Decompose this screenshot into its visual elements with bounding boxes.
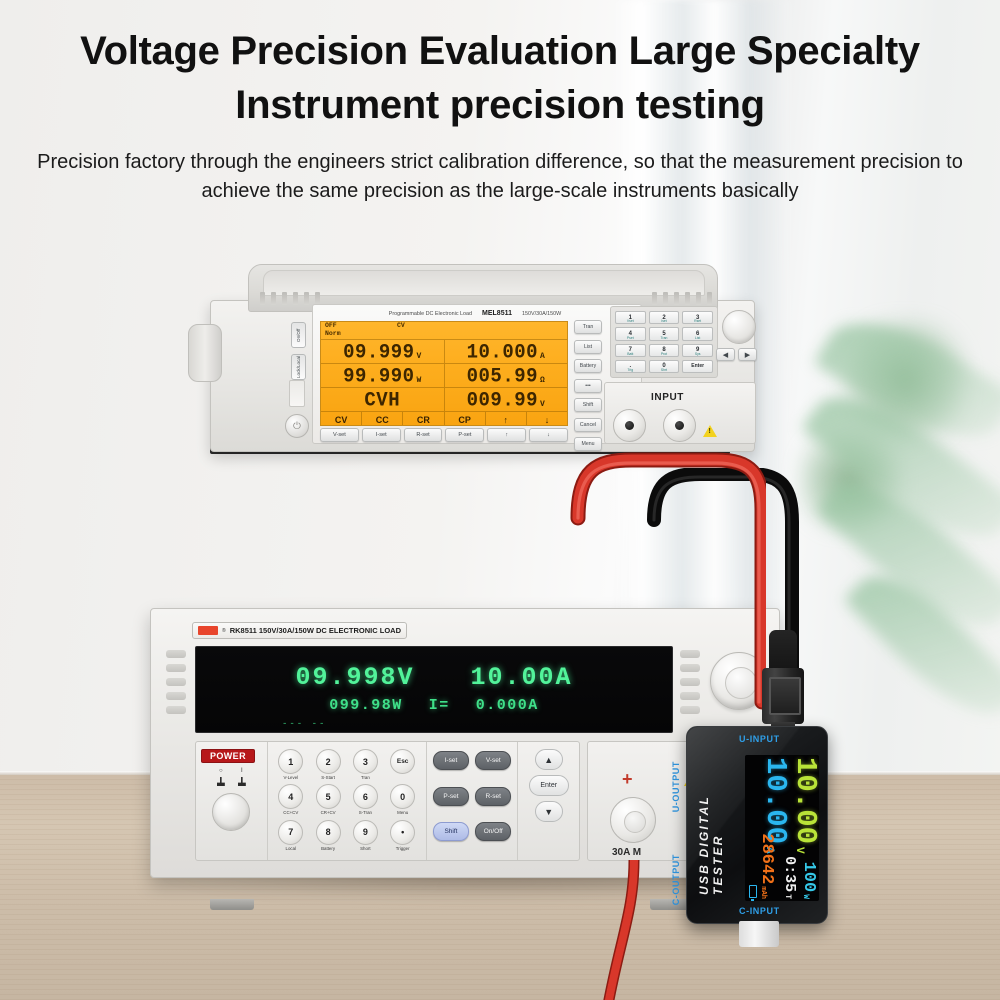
lcd-status-off: OFF: [325, 322, 341, 330]
vfd-power-value: 099.98W: [329, 697, 403, 714]
top-arrow-left[interactable]: ◀: [716, 348, 735, 361]
bot-enter-button[interactable]: Enter: [529, 775, 569, 796]
top-key-0[interactable]: 0Shrt: [649, 360, 680, 373]
key-sublabel: Shrt: [661, 368, 667, 372]
top-key-5[interactable]: 5Tran: [649, 327, 680, 340]
key-sublabel: Tran: [661, 336, 668, 340]
bot-key-5[interactable]: 5CR+CV: [311, 784, 345, 817]
top-softkey-rset[interactable]: R-set: [404, 428, 443, 442]
tester-voltage-value: 10.00: [791, 757, 819, 844]
bottom-vents-right: [680, 650, 700, 730]
marketing-header: Voltage Precision Evaluation Large Speci…: [0, 0, 1000, 206]
power-off-symbol: ○: [219, 768, 223, 775]
key-sublabel: V-Level: [283, 775, 298, 780]
vfd-voltage-value: 09.998V: [295, 663, 414, 692]
lcd-mode-text: CVH: [364, 389, 400, 412]
key-sublabel: Vset: [627, 319, 634, 323]
lcd-mode-legend: CV CC CR CP ↑ ↓: [321, 411, 567, 426]
tester-label-u-output: U-OUTPUT: [671, 761, 681, 812]
bottom-vents-left: [166, 650, 186, 730]
page-subtitle: Precision factory through the engineers …: [0, 132, 1000, 206]
tester-label-c-output: C-OUTPUT: [671, 854, 681, 905]
bottom-vfd-display: 09.998V 10.00A 099.98W I= 0.000A --- --: [195, 646, 673, 733]
bottom-rotary-knob[interactable]: [710, 652, 768, 710]
top-softkey-row: V-set I-set R-set P-set ↑ ↓: [320, 428, 568, 442]
chassis-foot-left: [210, 899, 254, 910]
lcd-voltage-unit: V: [417, 352, 422, 363]
key-label: Esc: [390, 749, 415, 774]
tester-lcd-screen: 10.00 V 10.00 A 100 W 0:35 T 28642 mAh: [745, 755, 819, 901]
top-instrument-mel8511: Programmable DC Electronic Load MEL8511 …: [200, 262, 760, 442]
key-sublabel: Trigger: [396, 846, 410, 851]
tester-capacity-value: 28642: [758, 833, 775, 884]
key-sublabel: Battery: [321, 846, 335, 851]
bottom-amp-rating-label: 30A M: [612, 847, 641, 858]
switch-off-icon: [217, 777, 225, 786]
handle-inner: [263, 270, 705, 296]
top-model-number: MEL8511: [482, 310, 512, 317]
top-binding-post-positive[interactable]: [613, 409, 646, 442]
top-left-button-column: On/Off Lock/Local: [285, 322, 311, 386]
bot-button-shift[interactable]: Shift: [433, 822, 469, 841]
tester-power-group: 100 W: [800, 862, 817, 899]
lcd-current-value: 10.000: [467, 341, 538, 364]
top-key-dot[interactable]: .Trig: [615, 360, 646, 373]
key-label: 6: [353, 784, 378, 809]
bot-arrow-down[interactable]: ▼: [535, 801, 563, 822]
key-sublabel: Menu: [397, 810, 408, 815]
tester-voltage-unit: V: [791, 847, 805, 854]
top-button-more[interactable]: •••: [574, 379, 602, 393]
top-name-label: Programmable DC Electronic Load: [389, 311, 472, 317]
key-sublabel: Trig: [627, 368, 633, 372]
lcd-voltage-value: 09.999: [343, 341, 414, 364]
registered-mark: ®: [222, 628, 226, 634]
key-sublabel: Iset: [661, 319, 666, 323]
lcd-setpoint-unit: V: [540, 400, 545, 411]
lcd-resistance-cell: 005.99 Ω: [444, 364, 568, 387]
bot-key-esc[interactable]: Esc: [386, 749, 420, 782]
top-key-3[interactable]: 3Rset: [682, 311, 713, 324]
top-vents-right: [652, 292, 712, 305]
lcd-status-norm: Norm: [325, 330, 341, 338]
bot-key-4[interactable]: 4CC+CV: [274, 784, 308, 817]
power-on-symbol-group: I: [238, 768, 246, 786]
top-key-enter[interactable]: Enter: [682, 360, 713, 373]
bot-key-dot[interactable]: •Trigger: [386, 820, 420, 853]
lcd-current-cell: 10.000 A: [444, 340, 568, 363]
top-button-list[interactable]: List: [574, 340, 602, 354]
tester-voltage-group: 10.00 V: [791, 757, 819, 854]
tester-brand-text: USB DIGITAL TESTER: [697, 763, 725, 895]
top-button-shift[interactable]: Shift: [574, 398, 602, 412]
key-sublabel: Sys: [695, 352, 701, 356]
top-key-9[interactable]: 9Sys: [682, 344, 713, 357]
lcd-row-3: CVH 009.99 V: [321, 387, 567, 411]
tester-label-c-input: C-INPUT: [739, 906, 780, 916]
tester-label-u-input: U-INPUT: [739, 734, 780, 744]
lcd-status-row: OFF Norm CV: [321, 322, 567, 339]
top-vents: [260, 292, 320, 305]
vfd-annunciators: --- --: [282, 719, 326, 729]
key-label: 0: [390, 784, 415, 809]
bot-arrow-up[interactable]: ▲: [535, 749, 563, 770]
battery-icon: [749, 885, 757, 898]
usb-cable-barrel: [769, 630, 797, 672]
page-title: Voltage Precision Evaluation Large Speci…: [0, 0, 1000, 132]
power-badge: POWER: [201, 749, 255, 763]
lcd-status-indicators: OFF Norm: [325, 322, 341, 338]
lcd-mode-up: ↑: [485, 412, 526, 426]
key-label: 1: [278, 749, 303, 774]
vfd-primary-row: 09.998V 10.00A: [196, 663, 672, 692]
bottom-control-deck: POWER ○ I 1V-Level 2S-Start 3Tran Esc 4C…: [195, 741, 580, 861]
top-softkey-up[interactable]: ↑: [487, 428, 526, 442]
key-sublabel: Rset: [694, 319, 701, 323]
lcd-mode-cp: CP: [444, 412, 485, 426]
vfd-set-current: 0.000A: [476, 697, 539, 714]
key-label: 2: [316, 749, 341, 774]
tester-time-group: 0:35 T: [782, 856, 797, 899]
top-key-6[interactable]: 6List: [682, 327, 713, 340]
top-model-bar: Programmable DC Electronic Load MEL8511 …: [320, 307, 630, 320]
tester-power-unit: W: [800, 894, 810, 899]
lcd-mode-down: ↓: [526, 412, 567, 426]
top-softkey-iset[interactable]: I-set: [362, 428, 401, 442]
top-numeric-keypad: 1Vset 2Iset 3Rset 4Pset 5Tran 6List 7Bat…: [610, 306, 718, 378]
tester-capacity-group: 28642 mAh: [758, 833, 775, 899]
power-on-symbol: I: [241, 768, 243, 775]
power-off-symbol-group: ○: [217, 768, 225, 786]
key-sublabel: S-Start: [321, 775, 335, 780]
key-label: Enter: [691, 363, 704, 369]
tester-usb-output-plug: [739, 921, 779, 947]
lcd-resistance-value: 005.99: [467, 365, 538, 388]
bottom-navigation-buttons: ▲ Enter ▼: [518, 742, 579, 860]
bot-key-6[interactable]: 6S-Tran: [348, 784, 382, 817]
positive-polarity-mark: +: [622, 769, 633, 790]
top-power-button[interactable]: ⏻: [285, 414, 309, 438]
bot-key-8[interactable]: 8Battery: [311, 820, 345, 853]
bottom-binding-post-positive[interactable]: [610, 797, 656, 843]
bottom-numeric-keypad: 1V-Level 2S-Start 3Tran Esc 4CC+CV 5CR+C…: [268, 742, 427, 860]
bot-key-2[interactable]: 2S-Start: [311, 749, 345, 782]
top-key-7[interactable]: 7Batt: [615, 344, 646, 357]
top-rating-label: 150V/30A/150W: [522, 311, 561, 317]
bot-key-1[interactable]: 1V-Level: [274, 749, 308, 782]
key-label: •: [390, 820, 415, 845]
bot-button-vset[interactable]: V-set: [475, 751, 511, 770]
key-sublabel: Tran: [361, 775, 370, 780]
key-sublabel: Pset: [627, 336, 634, 340]
lcd-row-1: 09.999 V 10.000 A: [321, 339, 567, 363]
top-side-knob[interactable]: [188, 324, 222, 382]
lcd-mode-cc: CC: [361, 412, 402, 426]
lcd-power-unit: W: [417, 376, 422, 387]
power-section: POWER ○ I: [196, 742, 268, 860]
key-sublabel: CR+CV: [321, 810, 336, 815]
top-lock-local-button[interactable]: Lock/Local: [291, 354, 306, 380]
top-lcd-display: OFF Norm CV 09.999 V 10.000 A 99.990 W 0…: [320, 321, 568, 426]
lcd-power-cell: 99.990 W: [321, 364, 444, 387]
key-label: 4: [278, 784, 303, 809]
top-onoff-button[interactable]: On/Off: [291, 322, 306, 348]
top-softkey-down[interactable]: ↓: [529, 428, 568, 442]
lcd-current-unit: A: [540, 352, 545, 363]
power-switch-knob[interactable]: [212, 793, 250, 831]
key-label: 8: [316, 820, 341, 845]
usb-digital-tester: U-INPUT C-INPUT U-OUTPUT C-OUTPUT USB DI…: [686, 726, 828, 924]
top-softkey-vset[interactable]: V-set: [320, 428, 359, 442]
top-button-tran[interactable]: Tran: [574, 320, 602, 334]
lcd-power-value: 99.990: [343, 365, 414, 388]
lcd-setpoint-value: 009.99: [467, 389, 538, 412]
top-button-cancel[interactable]: Cancel: [574, 418, 602, 432]
lcd-voltage-cell: 09.999 V: [321, 340, 444, 363]
bottom-function-buttons: I-set V-set P-set R-set Shift On/Off: [427, 742, 519, 860]
bot-button-pset[interactable]: P-set: [433, 787, 469, 806]
warning-triangle-icon: [703, 425, 717, 437]
top-button-battery[interactable]: Battery: [574, 359, 602, 373]
vfd-secondary-row: 099.98W I= 0.000A: [196, 697, 672, 714]
bottom-brand-text: RK8511 150V/30A/150W DC ELECTRONIC LOAD: [230, 626, 401, 635]
power-symbols: ○ I: [201, 768, 262, 786]
key-label: 7: [278, 820, 303, 845]
vfd-current-value: 10.00A: [471, 663, 573, 692]
bot-key-7[interactable]: 7Local: [274, 820, 308, 853]
top-softkey-pset[interactable]: P-set: [445, 428, 484, 442]
tester-screen-content: 10.00 V 10.00 A 100 W 0:35 T 28642 mAh: [745, 755, 819, 901]
top-button-menu[interactable]: Menu: [574, 437, 602, 451]
key-sublabel: List: [695, 336, 700, 340]
tester-capacity-unit: mAh: [758, 886, 767, 899]
vfd-set-label: I=: [429, 697, 450, 714]
tester-power-value: 100: [800, 862, 817, 893]
top-key-2[interactable]: 2Iset: [649, 311, 680, 324]
bot-button-iset[interactable]: I-set: [433, 751, 469, 770]
key-sublabel: CC+CV: [283, 810, 298, 815]
top-input-terminal-block: INPUT: [604, 382, 756, 444]
tester-time-unit: T: [782, 894, 792, 899]
top-rotary-knob[interactable]: [722, 310, 756, 344]
key-label: 3: [353, 749, 378, 774]
top-arrow-key-row: ◀ ▶: [716, 348, 757, 361]
brand-logo-chip: [198, 626, 218, 635]
top-key-8[interactable]: 8Prot: [649, 344, 680, 357]
usb-a-shell: [762, 668, 804, 724]
bot-key-9[interactable]: 9Short: [348, 820, 382, 853]
top-input-label: INPUT: [651, 392, 684, 403]
bot-button-rset[interactable]: R-set: [475, 787, 511, 806]
lcd-mode-cr: CR: [402, 412, 443, 426]
lcd-setpoint-cell: 009.99 V: [444, 388, 568, 411]
key-sublabel: S-Tran: [359, 810, 372, 815]
bot-key-0[interactable]: 0Menu: [386, 784, 420, 817]
lcd-modetext-cell: CVH: [321, 388, 444, 411]
key-sublabel: Local: [286, 846, 297, 851]
switch-on-icon: [238, 777, 246, 786]
bottom-brand-plate: ® RK8511 150V/30A/150W DC ELECTRONIC LOA…: [192, 622, 407, 639]
lcd-row-2: 99.990 W 005.99 Ω: [321, 363, 567, 387]
top-right-button-column: Tran List Battery ••• Shift Cancel Menu: [574, 320, 604, 457]
key-label: 5: [316, 784, 341, 809]
key-sublabel: Batt: [627, 352, 633, 356]
top-binding-post-negative[interactable]: [663, 409, 696, 442]
top-key-1[interactable]: 1Vset: [615, 311, 646, 324]
top-panel-slot: [289, 380, 305, 407]
key-label: 9: [353, 820, 378, 845]
key-sublabel: Prot: [661, 352, 667, 356]
lcd-mode-cv: CV: [321, 412, 361, 426]
top-arrow-right[interactable]: ▶: [738, 348, 757, 361]
tester-time-value: 0:35: [782, 856, 797, 892]
tester-current-value: 10.00: [761, 757, 789, 844]
bot-key-3[interactable]: 3Tran: [348, 749, 382, 782]
key-sublabel: Short: [360, 846, 371, 851]
lcd-mode-indicator: CV: [397, 322, 405, 329]
top-key-4[interactable]: 4Pset: [615, 327, 646, 340]
bot-button-onoff[interactable]: On/Off: [475, 822, 511, 841]
lcd-resistance-unit: Ω: [540, 376, 545, 387]
